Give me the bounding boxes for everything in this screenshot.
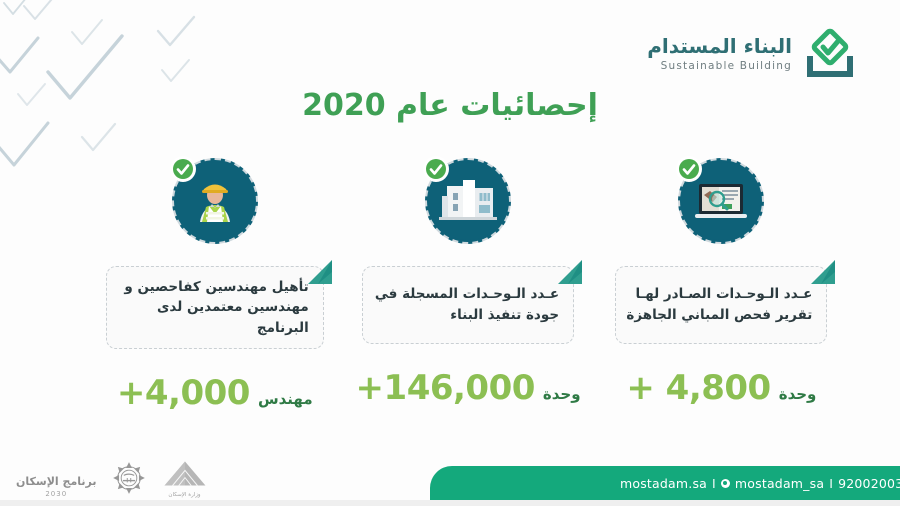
stat-number-1: + 4,800 xyxy=(626,368,770,408)
check-badge-icon xyxy=(423,156,449,182)
page-title: إحصائيات عام 2020 xyxy=(0,88,900,123)
stat-unit-1: وحدة xyxy=(779,385,817,403)
footer-website[interactable]: mostadam.sa xyxy=(620,476,707,491)
stat-value-group-3: مهندس +4,000 xyxy=(117,373,313,413)
stat-column-3: تأهيل مهندسين كفاحصين و مهندسين معتمدين … xyxy=(88,158,341,438)
check-badge-icon xyxy=(170,156,196,182)
triangle-flag-icon xyxy=(554,258,584,290)
footer-social-handle[interactable]: mostadam_sa xyxy=(735,476,824,491)
bottom-divider xyxy=(0,500,900,506)
housing-program-logo-icon: برنامج الإسكان 2030 xyxy=(16,476,97,498)
instagram-dot-icon xyxy=(721,479,730,488)
stat-card-1: عـدد الـوحـدات الصـادر لهـا تقرير فحص ال… xyxy=(615,266,827,344)
stat-number-3: +4,000 xyxy=(117,373,250,413)
brand-name-ar: البناء المستدام xyxy=(647,36,792,56)
infographic-canvas: البناء المستدام Sustainable Building إحص… xyxy=(0,0,900,506)
sustainable-building-house-check-logo-icon xyxy=(802,26,858,82)
stats-columns: عـدد الـوحـدات الصـادر لهـا تقرير فحص ال… xyxy=(88,158,848,438)
footer-separator-2: I xyxy=(829,476,833,491)
stat-unit-3: مهندس xyxy=(258,390,313,408)
triangle-flag-icon xyxy=(304,258,334,290)
stat-column-2: عـدد الـوحـدات المسجلة في جودة تنفيذ الب… xyxy=(341,158,594,438)
laptop-document-magnifier-icon xyxy=(678,158,764,244)
triangle-flag-icon xyxy=(807,258,837,290)
engineer-hardhat-icon xyxy=(172,158,258,244)
partner-name-1: برنامج الإسكان xyxy=(16,476,97,488)
stat-card-3: تأهيل مهندسين كفاحصين و مهندسين معتمدين … xyxy=(106,266,324,349)
saudi-vision-emblem-logo-icon xyxy=(109,458,149,498)
footer-phone[interactable]: 920020035 xyxy=(838,476,900,491)
partner-logos: برنامج الإسكان 2030 xyxy=(16,458,209,498)
stat-value-group-1: وحدة + 4,800 xyxy=(626,368,816,408)
partner-name-3: وزارة الإسكان xyxy=(168,492,200,498)
stat-unit-2: وحدة xyxy=(543,385,581,403)
stat-number-2: +146,000 xyxy=(356,368,535,408)
ministry-of-housing-logo-icon: وزارة الإسكان xyxy=(161,458,209,498)
check-badge-icon xyxy=(676,156,702,182)
building-villa-icon xyxy=(425,158,511,244)
footer-separator-1: I xyxy=(712,476,716,491)
stat-column-1: عـدد الـوحـدات الصـادر لهـا تقرير فحص ال… xyxy=(595,158,848,438)
brand-name-en: Sustainable Building xyxy=(661,61,792,72)
stat-value-group-2: وحدة +146,000 xyxy=(356,368,581,408)
brand-logo: البناء المستدام Sustainable Building xyxy=(647,26,858,82)
footer-contact-bar: mostadam.sa I mostadam_sa I 920020035 xyxy=(430,466,900,500)
stat-description-3: تأهيل مهندسين كفاحصين و مهندسين معتمدين … xyxy=(117,277,309,338)
stat-description-1: عـدد الـوحـدات الصـادر لهـا تقرير فحص ال… xyxy=(626,284,812,326)
stat-description-2: عـدد الـوحـدات المسجلة في جودة تنفيذ الب… xyxy=(373,284,559,326)
partner-year-1: 2030 xyxy=(45,490,67,498)
stat-card-2: عـدد الـوحـدات المسجلة في جودة تنفيذ الب… xyxy=(362,266,574,344)
